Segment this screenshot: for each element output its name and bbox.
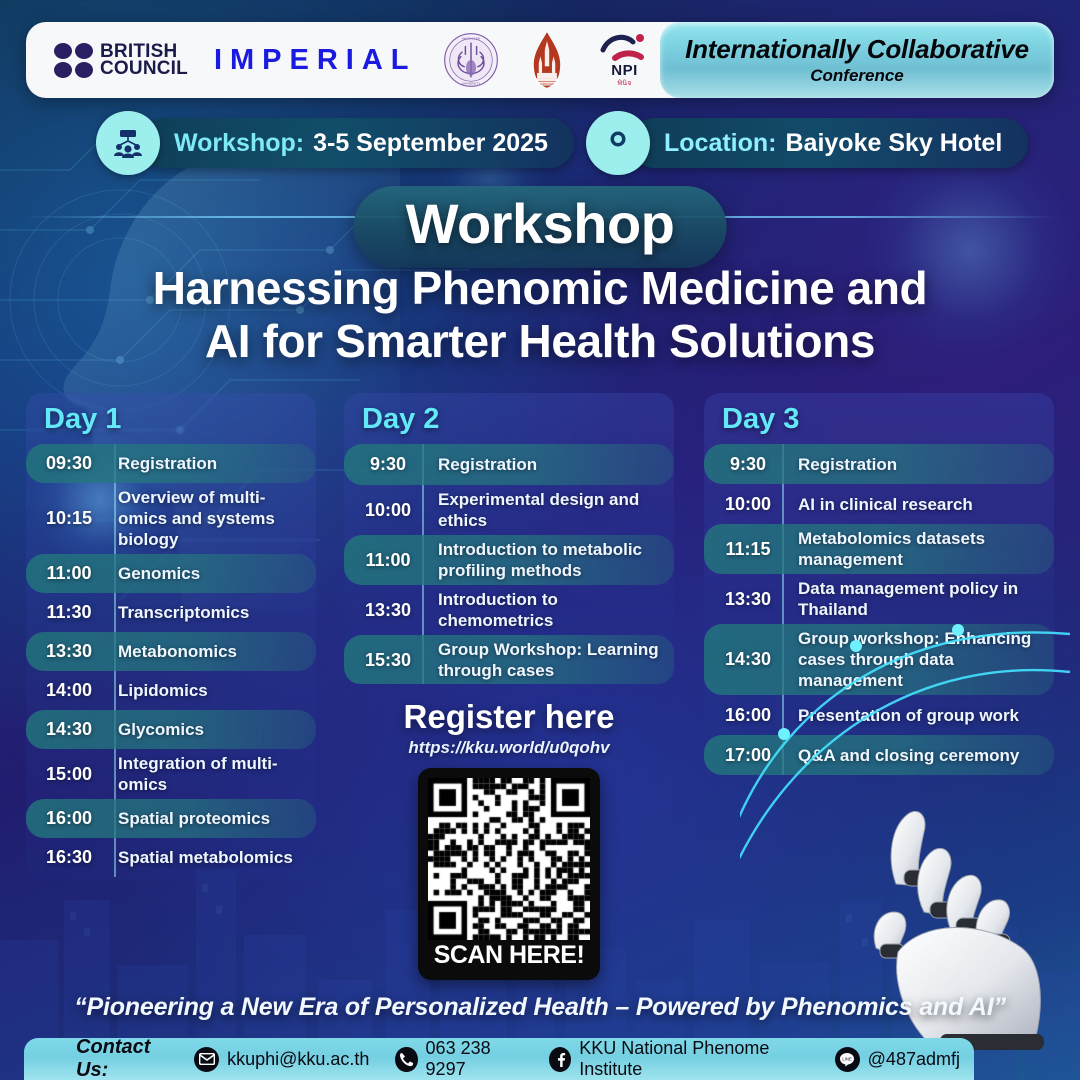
contact-label: Contact Us:	[76, 1036, 176, 1080]
svg-text:UNIVERSITY: UNIVERSITY	[461, 82, 479, 86]
schedule-event: Group workshop: Enhancing cases through …	[798, 628, 1046, 691]
schedule-time: 13:30	[352, 600, 424, 621]
day-2-schedule: 9:30Registration10:00Experimental design…	[344, 444, 674, 684]
page-title: Workshop	[406, 194, 675, 254]
workshop-date-chip: Workshop: 3-5 September 2025	[140, 118, 574, 168]
contact-phone[interactable]: 063 238 9297	[395, 1038, 523, 1080]
schedule-row: 11:00Genomics	[26, 554, 316, 593]
schedule-row: 14:30Glycomics	[26, 710, 316, 749]
schedule-row: 10:00Experimental design and ethics	[344, 485, 674, 535]
qr-code-image[interactable]	[428, 778, 590, 940]
schedule-time: 14:30	[712, 649, 784, 670]
schedule-row: 13:30Data management policy in Thailand	[704, 574, 1054, 624]
schedule-row: 10:15Overview of multi-omics and systems…	[26, 483, 316, 554]
schedule-event: Experimental design and ethics	[438, 489, 666, 531]
day-1-heading: Day 1	[26, 393, 316, 444]
phone-icon	[395, 1047, 417, 1072]
schedule-time: 17:00	[712, 745, 784, 766]
schedule-row: 11:00Introduction to metabolic profiling…	[344, 535, 674, 585]
schedule-time: 11:00	[352, 550, 424, 571]
registration-section: Register here https://kku.world/u0qohv S…	[344, 698, 674, 980]
conference-badge-line1: Internationally Collaborative	[685, 34, 1029, 65]
schedule-event: Metabonomics	[118, 641, 237, 662]
schedule-event: Transcriptomics	[118, 602, 249, 623]
schedule-time: 16:00	[712, 705, 784, 726]
contact-phone-text: 063 238 9297	[426, 1038, 523, 1080]
schedule-time: 11:15	[712, 539, 784, 560]
location-label: Location:	[664, 129, 777, 158]
schedule-time: 11:30	[34, 602, 104, 623]
schedule-event: Glycomics	[118, 719, 204, 740]
thai-royal-emblem-icon: KHON KAEN	[525, 31, 569, 89]
schedule-time: 10:15	[34, 508, 104, 529]
day-3-heading: Day 3	[704, 393, 1054, 444]
schedule-event: Integration of multi-omics	[118, 753, 308, 795]
schedule-row: 09:30Registration	[26, 444, 316, 483]
schedule-time: 13:30	[34, 641, 104, 662]
schedule-row: 10:00AI in clinical research	[704, 484, 1054, 524]
schedule-row: 14:30Group workshop: Enhancing cases thr…	[704, 624, 1054, 695]
schedule-event: Spatial metabolomics	[118, 847, 293, 868]
workshop-title-pill: Workshop	[354, 186, 727, 268]
contact-line[interactable]: LINE @487admfj	[835, 1047, 960, 1072]
schedule-time: 14:30	[34, 719, 104, 740]
email-icon	[194, 1047, 219, 1072]
day-1-schedule: 09:30Registration10:15Overview of multi-…	[26, 444, 316, 877]
schedule-event: Q&A and closing ceremony	[798, 745, 1019, 766]
day-card-3: Day 3 9:30Registration10:00AI in clinica…	[704, 393, 1054, 775]
conference-badge: Internationally Collaborative Conference	[660, 22, 1054, 98]
schedule-row: 11:30Transcriptomics	[26, 593, 316, 632]
npi-mark-icon	[599, 32, 651, 64]
line-icon: LINE	[835, 1047, 860, 1072]
facebook-icon	[549, 1047, 571, 1072]
schedule-time: 13:30	[712, 589, 784, 610]
svg-text:KHON KAEN: KHON KAEN	[461, 36, 479, 40]
schedule-time: 15:30	[352, 650, 424, 671]
register-heading: Register here	[344, 698, 674, 736]
schedule-event: Introduction to metabolic profiling meth…	[438, 539, 666, 581]
contact-email-text: kkuphi@kku.ac.th	[227, 1049, 369, 1070]
schedule-event: Registration	[798, 454, 897, 475]
schedule-event: Registration	[438, 454, 537, 475]
npi-label: NPI	[611, 64, 638, 78]
register-url[interactable]: https://kku.world/u0qohv	[344, 738, 674, 758]
workshop-label: Workshop:	[174, 129, 304, 158]
conference-badge-line2: Conference	[810, 66, 904, 86]
schedule-time: 11:00	[34, 563, 104, 584]
schedule-row: 9:30Registration	[704, 444, 1054, 484]
schedule-row: 17:00Q&A and closing ceremony	[704, 735, 1054, 775]
schedule-time: 9:30	[352, 454, 424, 475]
british-council-line2: COUNCIL	[100, 60, 188, 77]
schedule-event: Registration	[118, 453, 217, 474]
schedule-event: Group Workshop: Learning through cases	[438, 639, 666, 681]
main-title: Harnessing Phenomic Medicine and AI for …	[0, 262, 1080, 368]
schedule-time: 14:00	[34, 680, 104, 701]
day-card-2: Day 2 9:30Registration10:00Experimental …	[344, 393, 674, 684]
schedule-time: 15:00	[34, 764, 104, 785]
british-council-logo: BRITISH COUNCIL	[54, 43, 188, 78]
svg-text:LINE: LINE	[843, 1056, 853, 1061]
contact-line-text: @487admfj	[868, 1049, 960, 1070]
schedule-row: 13:30Introduction to chemometrics	[344, 585, 674, 635]
british-council-dots-icon	[54, 43, 93, 78]
schedule-event: Metabolomics datasets management	[798, 528, 1046, 570]
schedule-event: Introduction to chemometrics	[438, 589, 666, 631]
schedule-time: 10:00	[712, 494, 784, 515]
contact-facebook-text: KKU National Phenome Institute	[579, 1038, 808, 1080]
schedule-row: 13:30Metabonomics	[26, 632, 316, 671]
partner-logo-bar: BRITISH COUNCIL IMPERIAL KHON KAEN	[26, 22, 1054, 98]
event-info-row: Workshop: 3-5 September 2025 Location: B…	[0, 110, 1080, 176]
poster-canvas: BRITISH COUNCIL IMPERIAL KHON KAEN	[0, 0, 1080, 1080]
qr-code-block[interactable]: SCAN HERE!	[418, 768, 600, 980]
kku-seal-icon: KHON KAEN UNIVERSITY	[443, 32, 499, 88]
contact-facebook[interactable]: KKU National Phenome Institute	[549, 1038, 809, 1080]
schedule-time: 9:30	[712, 454, 784, 475]
location-chip: Location: Baiyoke Sky Hotel	[630, 118, 1028, 168]
schedule-event: Presentation of group work	[798, 705, 1019, 726]
schedule-time: 10:00	[352, 500, 424, 521]
schedule-event: Genomics	[118, 563, 200, 584]
day-card-1: Day 1 09:30Registration10:15Overview of …	[26, 393, 316, 880]
schedule-row: 15:00Integration of multi-omics	[26, 749, 316, 799]
schedule-event: AI in clinical research	[798, 494, 973, 515]
schedule-row: 14:00Lipidomics	[26, 671, 316, 710]
npi-logo: NPI พินิจ	[595, 31, 655, 89]
schedule-time: 16:30	[34, 847, 104, 868]
schedule-event: Spatial proteomics	[118, 808, 270, 829]
schedule-row: 15:30Group Workshop: Learning through ca…	[344, 635, 674, 684]
location-value: Baiyoke Sky Hotel	[786, 129, 1003, 158]
schedule-time: 16:00	[34, 808, 104, 829]
schedule-row: 11:15Metabolomics datasets management	[704, 524, 1054, 574]
day-2-heading: Day 2	[344, 393, 674, 444]
schedule-row: 9:30Registration	[344, 444, 674, 485]
schedule-time: 09:30	[34, 453, 104, 474]
schedule-event: Data management policy in Thailand	[798, 578, 1046, 620]
qr-caption: SCAN HERE!	[428, 940, 590, 970]
imperial-logo: IMPERIAL	[214, 44, 417, 77]
location-pin-icon	[586, 111, 650, 175]
schedule-event: Overview of multi-omics and systems biol…	[118, 487, 308, 550]
schedule-event: Lipidomics	[118, 680, 208, 701]
main-title-line1: Harnessing Phenomic Medicine and	[0, 262, 1080, 315]
workshop-group-icon	[96, 111, 160, 175]
contact-bar: Contact Us: kkuphi@kku.ac.th 063 238 929…	[24, 1038, 974, 1080]
tagline: “Pioneering a New Era of Personalized He…	[0, 993, 1080, 1022]
contact-email[interactable]: kkuphi@kku.ac.th	[194, 1047, 369, 1072]
schedule-row: 16:30Spatial metabolomics	[26, 838, 316, 877]
schedule-row: 16:00Spatial proteomics	[26, 799, 316, 838]
npi-sublabel: พินิจ	[617, 78, 631, 89]
workshop-date-value: 3-5 September 2025	[313, 129, 548, 158]
schedule-row: 16:00Presentation of group work	[704, 695, 1054, 735]
main-title-line2: AI for Smarter Health Solutions	[0, 315, 1080, 368]
day-3-schedule: 9:30Registration10:00AI in clinical rese…	[704, 444, 1054, 775]
